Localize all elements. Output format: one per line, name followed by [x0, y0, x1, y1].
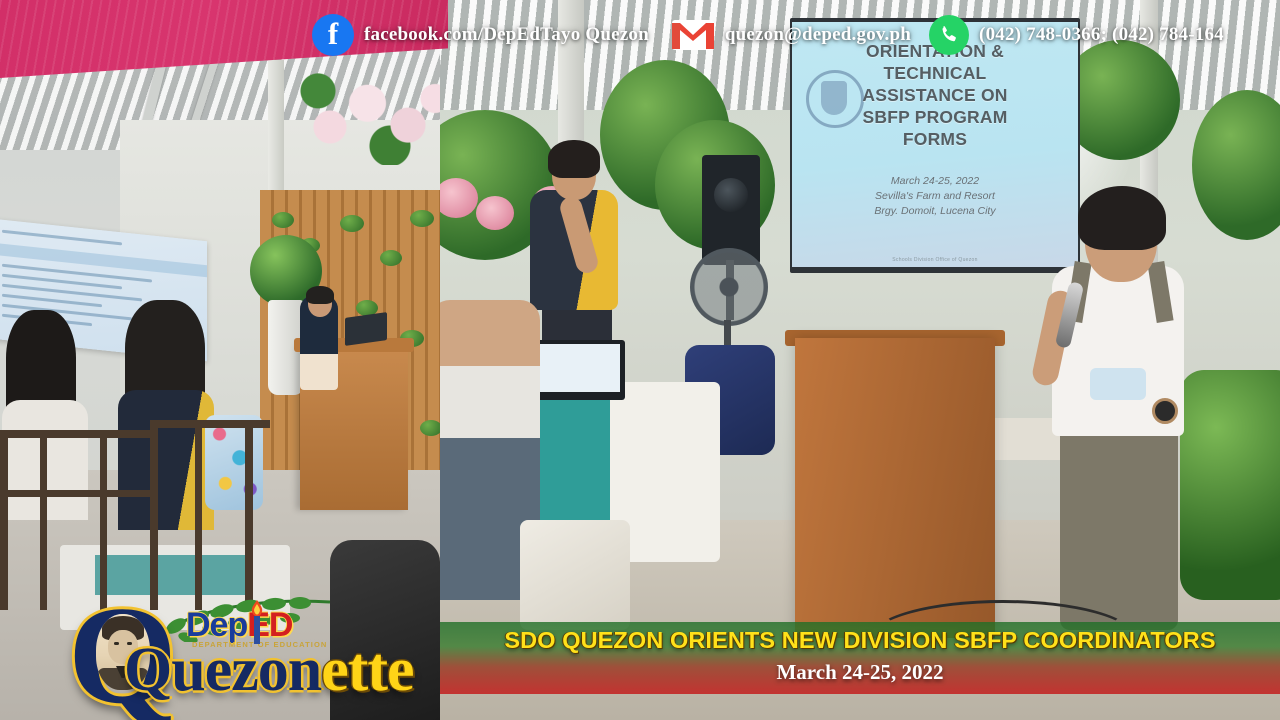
right-laptop-screen [540, 344, 620, 392]
left-ivy [340, 215, 364, 232]
facebook-icon[interactable]: f [312, 14, 354, 56]
header-contact-row: f facebook.com/DepEdTayo Quezon quezon@d… [0, 0, 1280, 70]
slide-title-line: ASSISTANCE ON [792, 84, 1078, 106]
email-label: quezon@deped.gov.ph [725, 24, 911, 46]
left-chair [0, 490, 150, 497]
right-podium [795, 338, 995, 638]
left-laptop [345, 312, 387, 346]
slide-date: March 24-25, 2022 [792, 174, 1078, 189]
left-chair [195, 420, 202, 610]
facebook-label: facebook.com/DepEdTayo Quezon [364, 24, 649, 46]
right-hedge [1180, 370, 1280, 600]
email-contact[interactable]: quezon@deped.gov.ph [671, 18, 911, 52]
phone-contact[interactable]: (042) 748-0366; (042) 784-164 [929, 15, 1224, 55]
left-flower-arrangement [300, 70, 440, 165]
slide-subtitle: March 24-25, 2022 Sevilla's Farm and Res… [792, 174, 1078, 220]
left-ivy [410, 210, 434, 227]
left-chair [0, 430, 150, 438]
left-chair [0, 430, 8, 610]
gmail-icon[interactable] [671, 18, 715, 52]
logo-wordmark: Quezonette [124, 636, 424, 706]
left-chair [245, 420, 253, 610]
left-ivy [272, 212, 294, 228]
headline-date: March 24-25, 2022 [440, 660, 1280, 685]
right-white-bag [520, 520, 630, 630]
slide-footer: Schools Division Office of Quezon [792, 257, 1078, 263]
facebook-contact[interactable]: f facebook.com/DepEdTayo Quezon [312, 14, 649, 56]
headline-text: SDO QUEZON ORIENTS NEW DIVISION SBFP COO… [440, 627, 1280, 654]
main-speaker-watch [1152, 398, 1178, 424]
left-floral-bag [205, 415, 263, 510]
slide-title-line: SBFP PROGRAM [792, 106, 1078, 128]
slide-title-line: FORMS [792, 128, 1078, 150]
right-pink-flower [476, 196, 514, 230]
slide-venue: Sevilla's Farm and Resort [792, 189, 1078, 204]
right-presenter-hair [548, 140, 600, 178]
logo-word-ette: ette [321, 636, 413, 704]
quezonette-logo[interactable]: Q DepED DEPARTMENT OF EDUCATION Quezonet… [34, 600, 394, 712]
photo-right: ORIENTATION & TECHNICAL ASSISTANCE ON SB… [440, 0, 1280, 720]
left-ivy [380, 250, 402, 266]
left-speaker-hair [306, 286, 334, 304]
main-speaker-face-mask [1090, 368, 1146, 400]
news-graphic: ORIENTATION & TECHNICAL ASSISTANCE ON SB… [0, 0, 1280, 720]
headline-banner: SDO QUEZON ORIENTS NEW DIVISION SBFP COO… [440, 622, 1280, 694]
right-loudspeaker-cone [714, 178, 748, 212]
left-chair [40, 430, 47, 610]
phone-icon[interactable] [929, 15, 969, 55]
logo-word-quezon: Quezon [124, 636, 321, 704]
phone-label: (042) 748-0366; (042) 784-164 [979, 24, 1224, 46]
right-electric-fan [690, 248, 768, 326]
left-ivy [420, 420, 440, 436]
main-speaker-hair [1078, 186, 1166, 250]
slide-address: Brgy. Domoit, Lucena City [792, 204, 1078, 219]
